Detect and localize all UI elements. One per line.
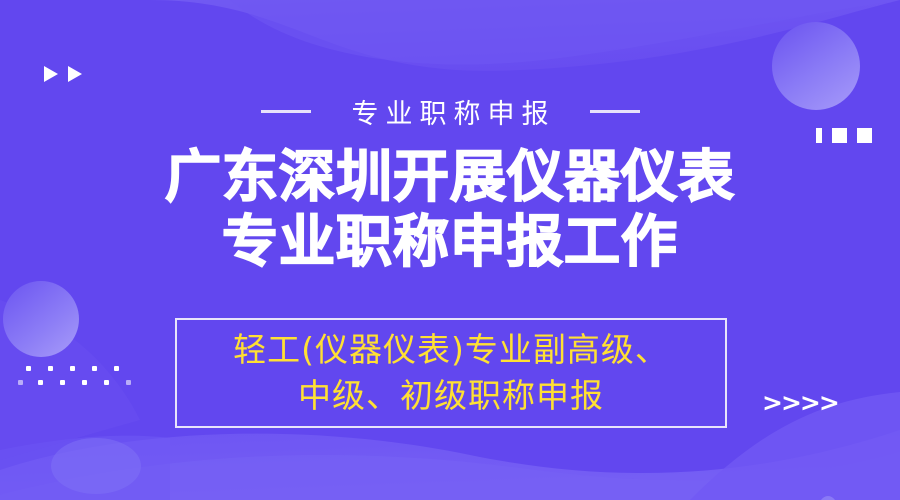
subtitle: 轻工(仪器仪表)专业副高级、 中级、初级职称申报 <box>233 327 669 419</box>
eyebrow-label: 专业职称申报 <box>345 92 556 131</box>
eyebrow-rule-right <box>590 110 640 113</box>
promo-banner: >>>> 专业职称申报 广东深圳开展仪器仪表 专业职称申报工作 轻工(仪器仪表)… <box>0 0 900 500</box>
eyebrow-rule-left <box>261 110 311 113</box>
subtitle-line-1: 轻工(仪器仪表)专业副高级、 <box>233 327 669 373</box>
headline-line-1: 广东深圳开展仪器仪表 <box>165 145 735 210</box>
subtitle-box: 轻工(仪器仪表)专业副高级、 中级、初级职称申报 <box>175 318 727 428</box>
headline-line-2: 专业职称申报工作 <box>165 210 735 275</box>
eyebrow: 专业职称申报 <box>261 92 640 131</box>
subtitle-line-2: 中级、初级职称申报 <box>233 373 669 419</box>
page-title: 广东深圳开展仪器仪表 专业职称申报工作 <box>165 145 735 275</box>
